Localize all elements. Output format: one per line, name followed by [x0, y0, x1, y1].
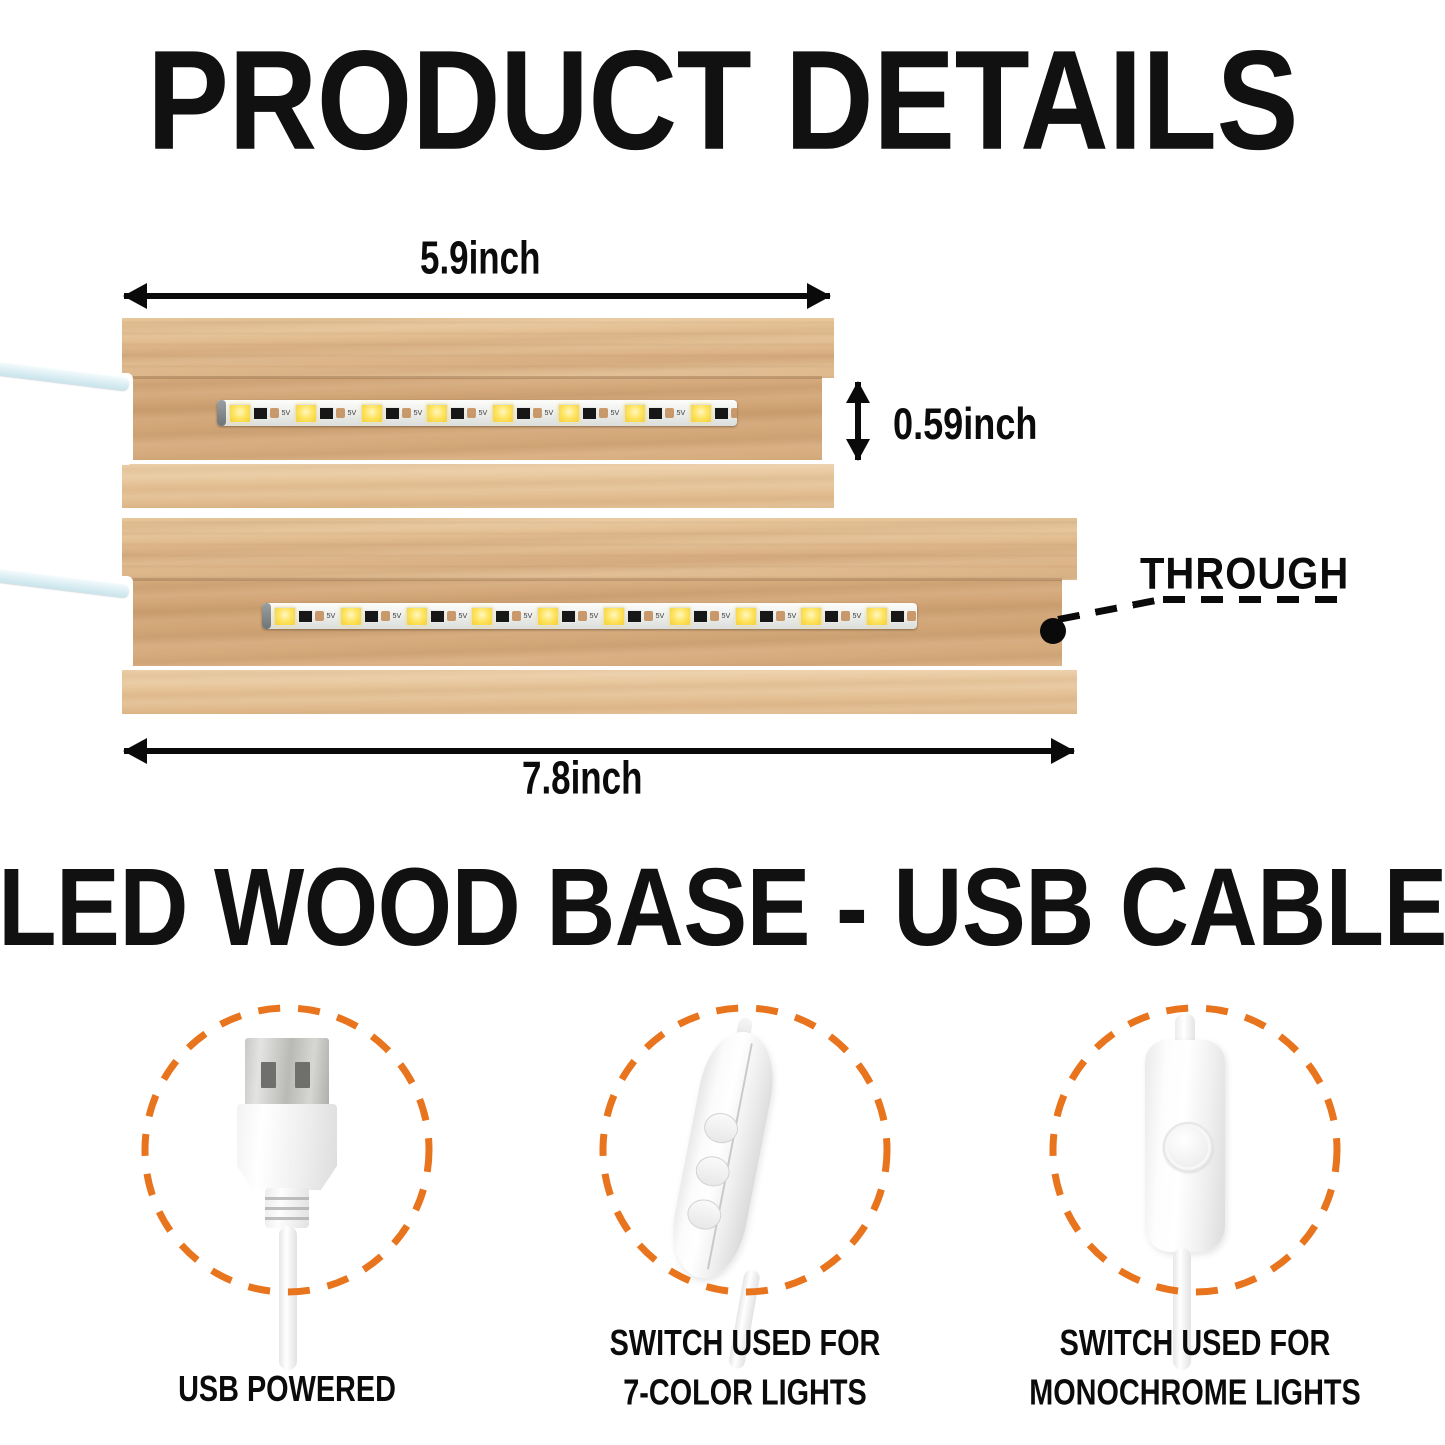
led-resistor: [298, 610, 313, 623]
led-chip-row: 5V5V5V5V5V5V5V5V5V5V5V5V5V: [262, 603, 917, 629]
caption-line-2: MONOCHROME LIGHTS: [1000, 1368, 1391, 1418]
wood-upper-face: [122, 318, 834, 378]
led-chip: [361, 404, 383, 423]
feature-switch-monochrome: SWITCH USED FOR MONOCHROME LIGHTS: [1045, 1000, 1345, 1420]
led-solder-pad: [578, 611, 587, 621]
dimension-label-width-top: 5.9inch: [420, 233, 540, 285]
led-segment: 5V: [359, 400, 425, 426]
led-solder-pad: [447, 611, 456, 621]
led-solder-pad: [467, 408, 476, 418]
led-resistor: [516, 407, 531, 420]
led-segment: 5V: [622, 400, 688, 426]
led-chip: [426, 404, 448, 423]
led-voltage-marking: 5V: [479, 409, 488, 416]
led-segment: 5V: [864, 603, 917, 629]
led-voltage-marking: 5V: [458, 612, 467, 619]
led-segment: 5V: [688, 400, 737, 426]
dimension-label-height: 0.59inch: [893, 400, 1037, 451]
led-resistor: [385, 407, 400, 420]
led-chip: [669, 607, 691, 626]
section-title: LED WOOD BASE - USB CABLE: [0, 853, 1445, 963]
led-solder-pad: [644, 611, 653, 621]
led-resistor: [430, 610, 445, 623]
led-resistor: [824, 610, 839, 623]
caption-line-2: 7-COLOR LIGHTS: [550, 1368, 941, 1418]
led-resistor: [495, 610, 510, 623]
led-solder-pad: [402, 408, 411, 418]
wood-base-small: 5V5V5V5V5V5V5V5V5V5V5V: [122, 318, 834, 508]
led-segment: 5V: [667, 603, 733, 629]
led-segment: 5V: [338, 603, 404, 629]
led-strip-top: 5V5V5V5V5V5V5V5V5V5V5V: [217, 400, 737, 426]
led-resistor: [714, 407, 729, 420]
led-resistor: [693, 610, 708, 623]
led-segment: 5V: [490, 400, 556, 426]
wood-base-large: 5V5V5V5V5V5V5V5V5V5V5V5V5V: [122, 518, 1077, 714]
feature-usb-powered: USB POWERED: [137, 1000, 437, 1420]
led-resistor: [319, 407, 334, 420]
wood-front-lip: [122, 464, 834, 508]
led-solder-pad: [270, 408, 279, 418]
infographic-canvas: PRODUCT DETAILS 5.9inch 5V5V5V5V5V5V5V5V…: [0, 0, 1445, 1445]
led-segment: 5V: [469, 603, 535, 629]
led-resistor: [627, 610, 642, 623]
led-chip: [340, 607, 362, 626]
led-segment: 5V: [798, 603, 864, 629]
feature-caption: SWITCH USED FOR MONOCHROME LIGHTS: [1000, 1318, 1391, 1417]
led-chip: [866, 607, 888, 626]
led-solder-pad: [731, 408, 737, 418]
led-solder-pad: [599, 408, 608, 418]
led-chip: [537, 607, 559, 626]
led-strip-bottom: 5V5V5V5V5V5V5V5V5V5V5V5V5V: [262, 603, 917, 629]
led-resistor: [364, 610, 379, 623]
led-voltage-marking: 5V: [281, 409, 290, 416]
led-voltage-marking: 5V: [610, 409, 619, 416]
led-voltage-marking: 5V: [347, 409, 356, 416]
wood-seam: [122, 461, 834, 464]
wood-upper-face: [122, 518, 1077, 580]
led-chip: [295, 404, 317, 423]
led-solder-pad: [336, 408, 345, 418]
led-chip: [492, 404, 514, 423]
power-cable-bottom: [0, 569, 130, 598]
led-solder-pad: [381, 611, 390, 621]
caption-line-1: USB POWERED: [92, 1364, 483, 1414]
wood-seam: [122, 667, 1077, 670]
led-solder-pad: [907, 611, 916, 621]
led-voltage-marking: 5V: [721, 612, 730, 619]
power-cable-top: [0, 362, 130, 391]
led-solder-pad: [315, 611, 324, 621]
led-chip: [471, 607, 493, 626]
led-segment: 5V: [556, 400, 622, 426]
feature-switch-7-color: SWITCH USED FOR 7-COLOR LIGHTS: [595, 1000, 895, 1420]
led-voltage-marking: 5V: [524, 612, 533, 619]
led-segment: 5V: [601, 603, 667, 629]
dashed-circle-border: [1045, 1000, 1345, 1300]
through-label: THROUGH: [1140, 549, 1349, 599]
led-segment: 5V: [227, 400, 293, 426]
led-resistor: [648, 407, 663, 420]
led-chip: [603, 607, 625, 626]
led-resistor: [582, 407, 597, 420]
led-solder-pad: [533, 408, 542, 418]
dimension-arrow-height: [855, 382, 861, 460]
led-voltage-marking: 5V: [676, 409, 685, 416]
wood-front-lip: [122, 670, 1077, 714]
dimension-arrow-width-top: [124, 293, 830, 299]
led-solder-pad: [776, 611, 785, 621]
led-resistor: [253, 407, 268, 420]
led-voltage-marking: 5V: [655, 612, 664, 619]
led-voltage-marking: 5V: [545, 409, 554, 416]
led-segment: 5V: [535, 603, 601, 629]
led-chip-row: 5V5V5V5V5V5V5V5V5V5V5V: [217, 400, 737, 426]
feature-caption: USB POWERED: [92, 1364, 483, 1414]
led-chip: [800, 607, 822, 626]
led-chip: [229, 404, 251, 423]
dashed-circle-border: [595, 1000, 895, 1300]
led-chip: [624, 404, 646, 423]
led-chip: [406, 607, 428, 626]
led-voltage-marking: 5V: [590, 612, 599, 619]
led-resistor: [759, 610, 774, 623]
led-chip: [690, 404, 712, 423]
led-voltage-marking: 5V: [413, 409, 422, 416]
feature-caption: SWITCH USED FOR 7-COLOR LIGHTS: [550, 1318, 941, 1417]
led-resistor: [890, 610, 905, 623]
led-chip: [274, 607, 296, 626]
led-resistor: [561, 610, 576, 623]
dimension-label-width-bottom: 7.8inch: [522, 753, 642, 805]
led-segment: 5V: [733, 603, 799, 629]
wood-edge-shadow-upper: [122, 578, 1062, 581]
dashed-circle-border: [137, 1000, 437, 1300]
page-title: PRODUCT DETAILS: [0, 29, 1445, 171]
led-segment: 5V: [293, 400, 359, 426]
led-segment: 5V: [424, 400, 490, 426]
led-resistor: [450, 407, 465, 420]
led-solder-pad: [512, 611, 521, 621]
wood-edge-shadow-upper: [122, 376, 822, 379]
led-chip: [558, 404, 580, 423]
led-voltage-marking: 5V: [853, 612, 862, 619]
led-segment: 5V: [272, 603, 338, 629]
led-segment: 5V: [404, 603, 470, 629]
led-solder-pad: [665, 408, 674, 418]
led-solder-pad: [841, 611, 850, 621]
caption-line-1: SWITCH USED FOR: [1000, 1318, 1391, 1368]
caption-line-1: SWITCH USED FOR: [550, 1318, 941, 1368]
led-voltage-marking: 5V: [392, 612, 401, 619]
led-voltage-marking: 5V: [326, 612, 335, 619]
led-chip: [735, 607, 757, 626]
led-solder-pad: [710, 611, 719, 621]
led-voltage-marking: 5V: [787, 612, 796, 619]
